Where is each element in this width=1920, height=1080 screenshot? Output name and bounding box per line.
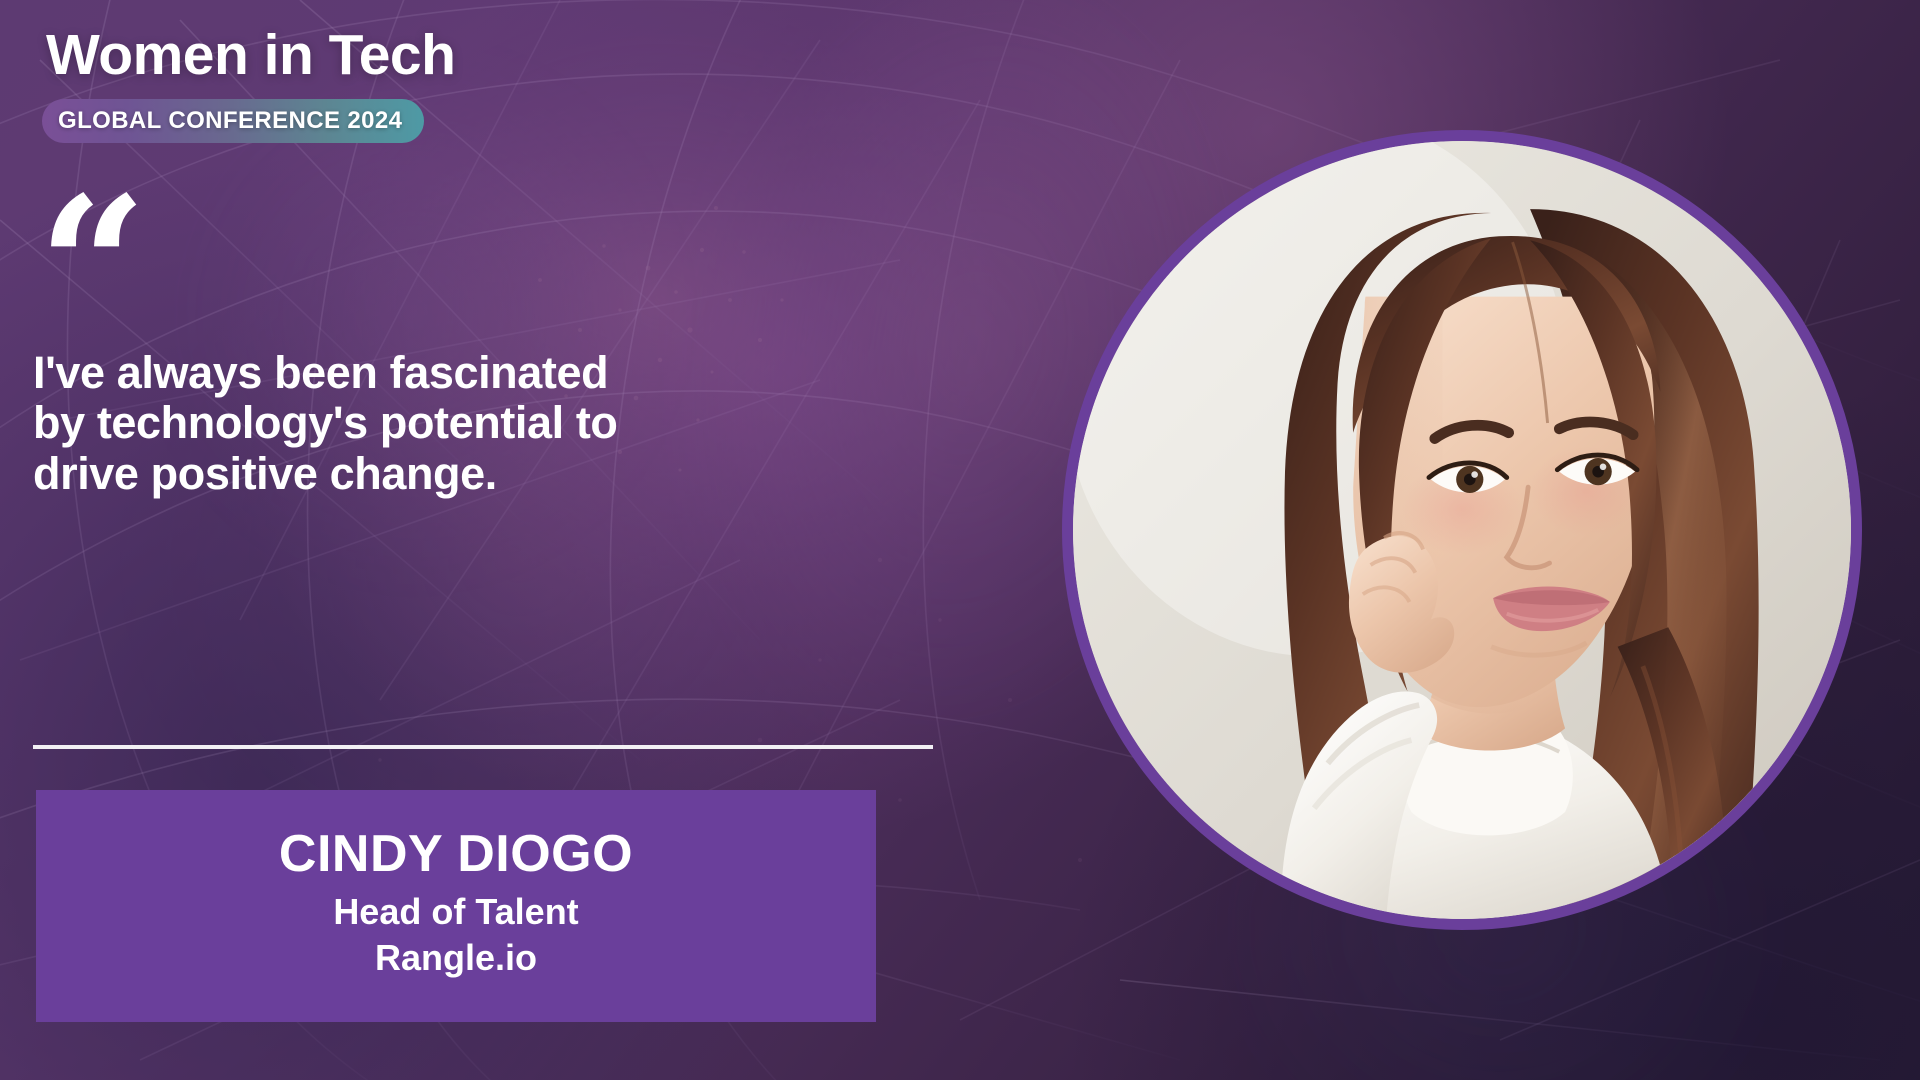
brand-title: Women in Tech	[46, 24, 455, 88]
speaker-portrait-frame	[1062, 130, 1862, 930]
left-content-column: Women in Tech GLOBAL CONFERENCE 2024 “ I…	[0, 0, 960, 1080]
speaker-name-card: CINDY DIOGO Head of Talent Rangle.io	[36, 790, 876, 1022]
speaker-quote-card: Women in Tech GLOBAL CONFERENCE 2024 “ I…	[0, 0, 1920, 1080]
horizontal-divider	[33, 745, 933, 749]
conference-badge: GLOBAL CONFERENCE 2024	[42, 99, 424, 143]
conference-badge-label: GLOBAL CONFERENCE 2024	[58, 107, 402, 135]
speaker-role: Head of Talent	[333, 892, 578, 932]
quote-text: I've always been fascinated by technolog…	[33, 348, 733, 499]
portrait-illustration	[1073, 141, 1851, 919]
speaker-name: CINDY DIOGO	[279, 827, 633, 882]
speaker-portrait-photo	[1073, 141, 1851, 919]
quote-open-mark: “	[38, 172, 141, 362]
speaker-company: Rangle.io	[375, 938, 537, 978]
